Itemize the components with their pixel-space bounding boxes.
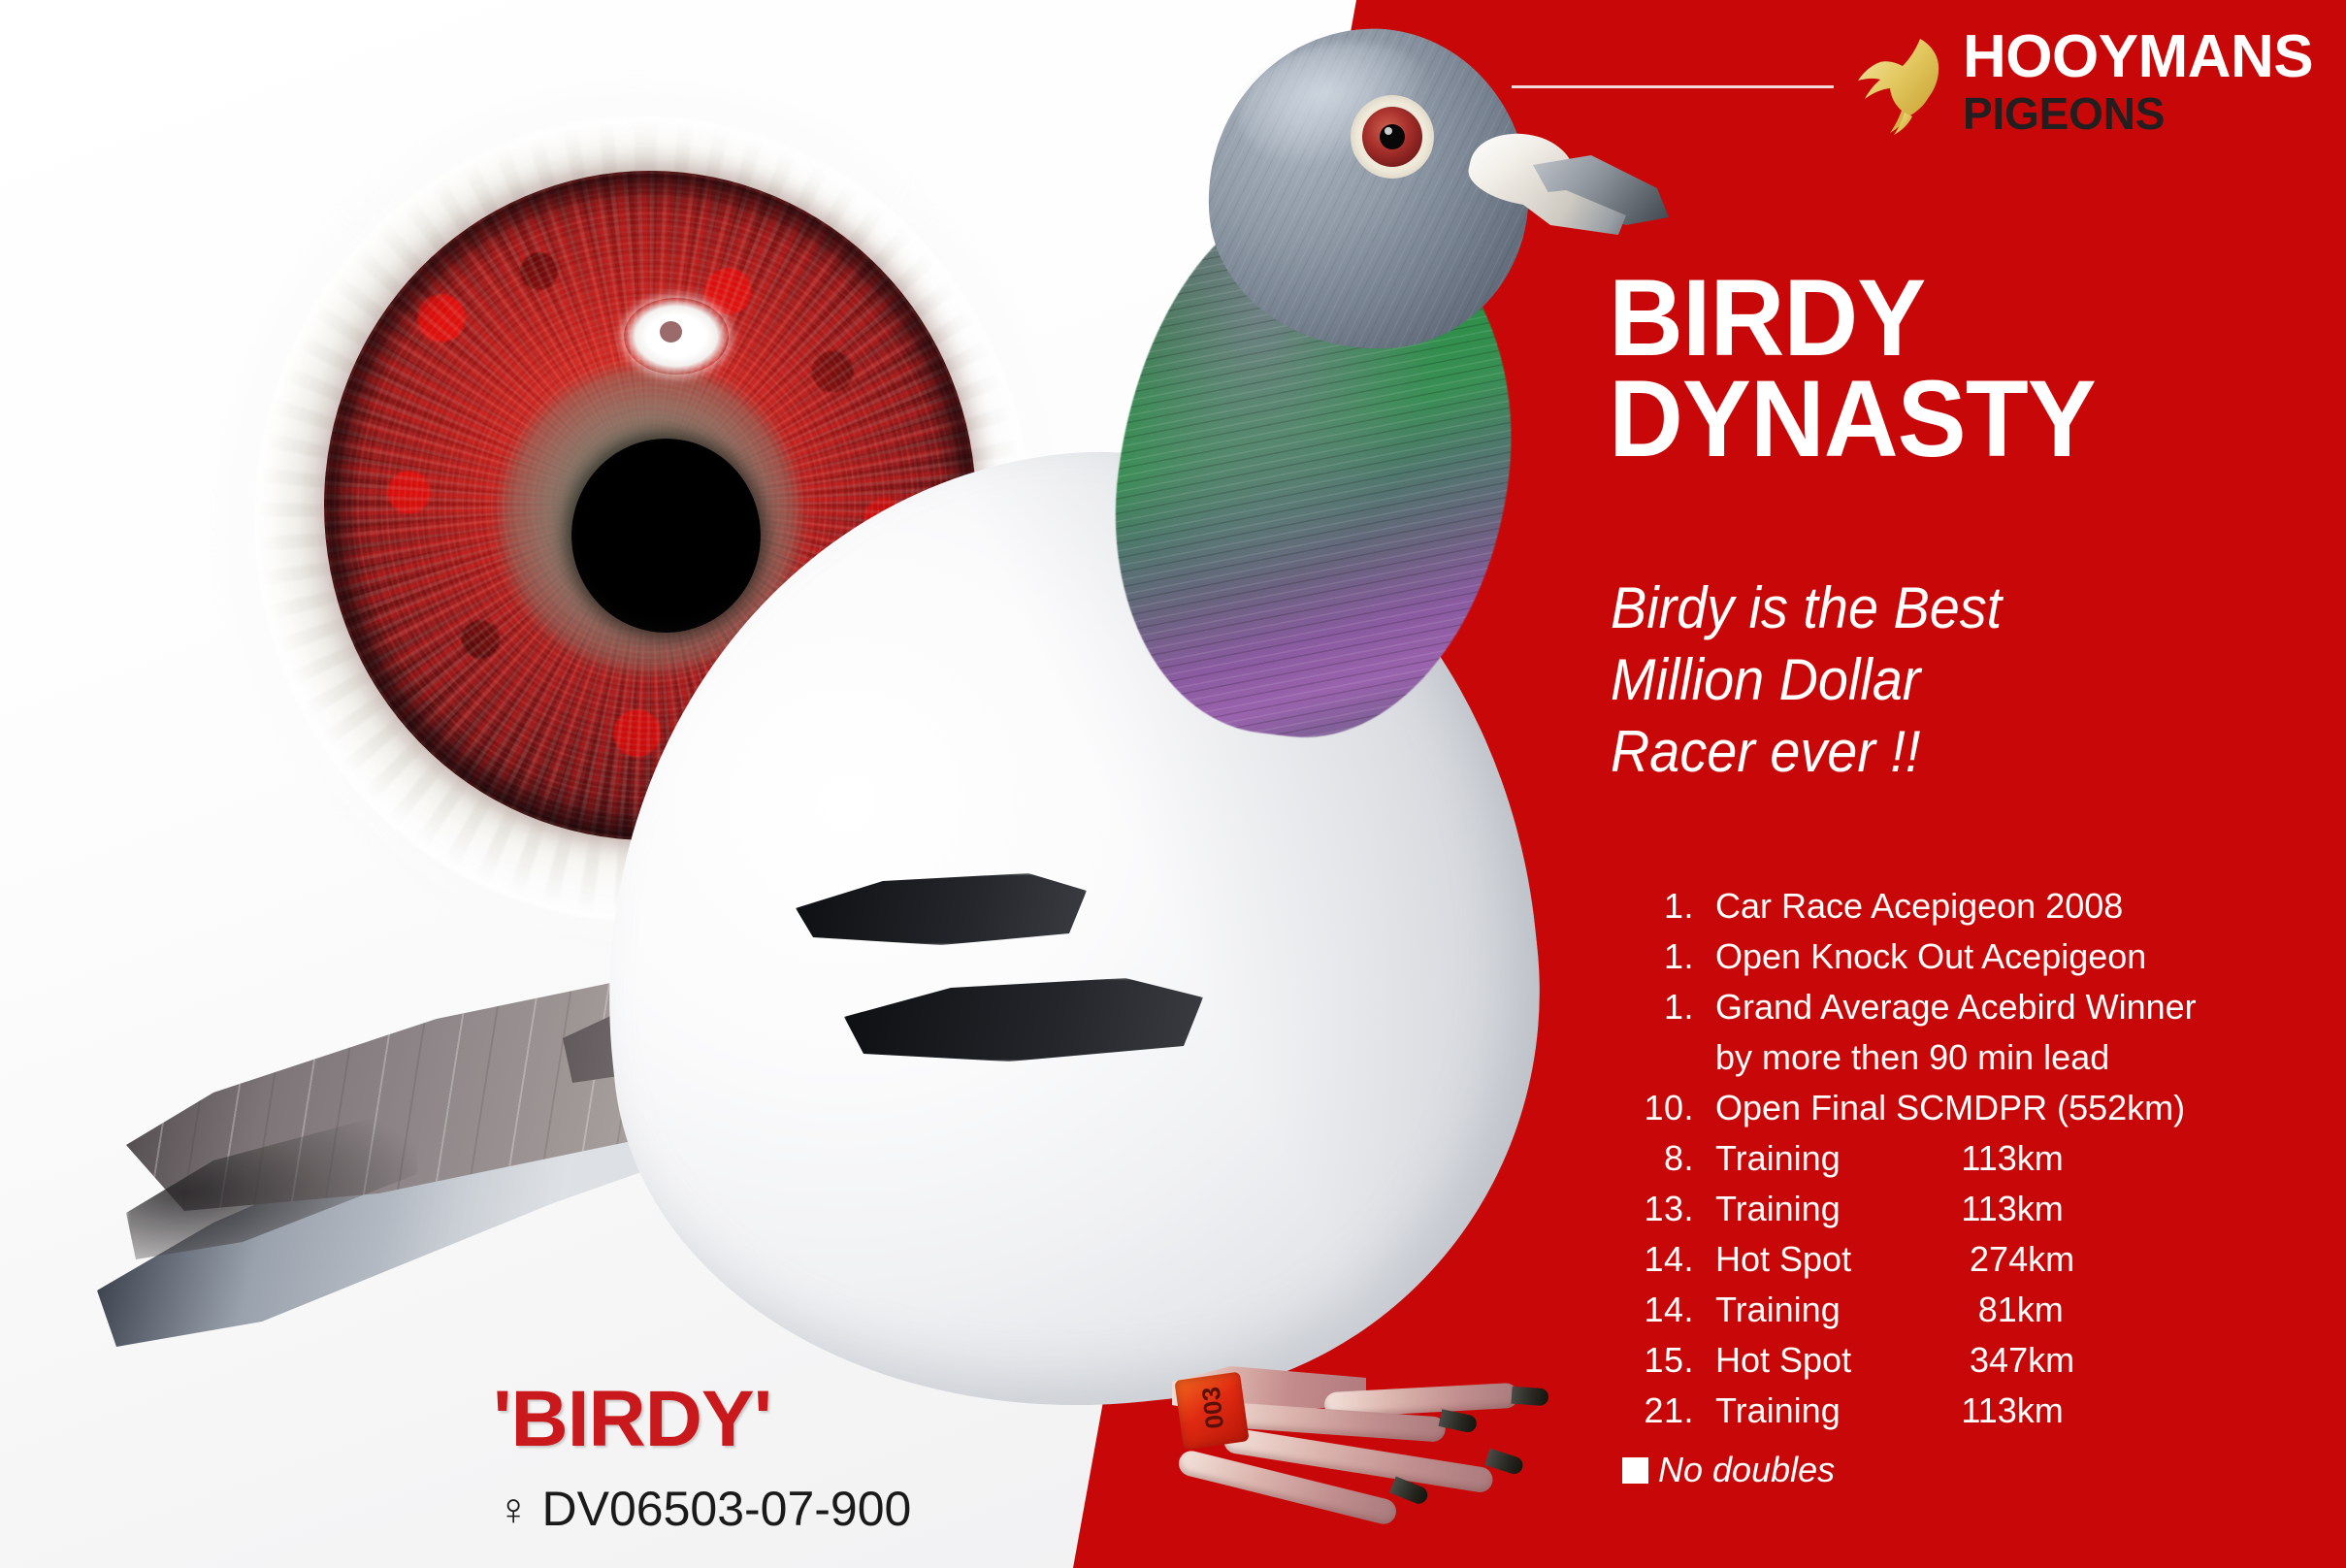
- result-row: 8.Training113km: [1622, 1133, 2263, 1184]
- poster-canvas: 003 HOOYMANS PIGEONS BIRDY DYNASTY Birdy: [0, 0, 2346, 1568]
- racing-pigeon-photo: 003: [58, 0, 1649, 1568]
- result-rank: 1.: [1622, 982, 1715, 1032]
- result-name: Training: [1715, 1133, 1841, 1184]
- logo-line-pigeons: PIGEONS: [1963, 89, 2313, 138]
- result-row: 1.Open Knock Out Acepigeon: [1622, 931, 2263, 982]
- pigeon-leg-ring-text: 003: [1195, 1379, 1230, 1430]
- result-rank: 1.: [1622, 881, 1715, 931]
- result-name: by more then 90 min lead: [1715, 1032, 2109, 1083]
- result-rank: 10.: [1622, 1083, 1715, 1133]
- result-rank: 1.: [1622, 931, 1715, 982]
- flying-pigeon-icon: [1848, 33, 1965, 140]
- page-subtitle: Birdy is the Best Million Dollar Racer e…: [1611, 572, 2242, 788]
- result-rank: 14.: [1622, 1285, 1715, 1335]
- result-name: Hot Spot: [1715, 1234, 1851, 1285]
- result-rank: 8.: [1622, 1133, 1715, 1184]
- pigeon-eye-glint: [1385, 127, 1392, 135]
- result-name: Hot Spot: [1715, 1335, 1851, 1386]
- result-rank: 13.: [1622, 1184, 1715, 1234]
- subtitle-line-3: Racer ever !!: [1611, 716, 2242, 788]
- result-row: 1.Car Race Acepigeon 2008: [1622, 881, 2263, 931]
- result-name: Open Knock Out Acepigeon: [1715, 931, 2146, 982]
- result-row: 15.Hot Spot347km: [1622, 1335, 2263, 1386]
- white-square-icon: [1622, 1457, 1648, 1484]
- pigeon-eye-pupil: [1380, 124, 1405, 149]
- result-name: Open Final SCMDPR (552km): [1715, 1083, 2185, 1133]
- result-row: 10.Open Final SCMDPR (552km): [1622, 1083, 2263, 1133]
- result-distance: 274km: [1851, 1234, 2074, 1285]
- pigeon-claw: [1511, 1387, 1548, 1407]
- result-distance: 81km: [1841, 1285, 2064, 1335]
- result-row: 13.Training113km: [1622, 1184, 2263, 1234]
- result-distance: 113km: [1841, 1133, 2064, 1184]
- result-row: 14.Hot Spot274km: [1622, 1234, 2263, 1285]
- no-doubles-label: No doubles: [1658, 1450, 1835, 1490]
- result-name: Training: [1715, 1184, 1841, 1234]
- result-row: 21.Training113km: [1622, 1386, 2263, 1436]
- result-name: Training: [1715, 1285, 1841, 1335]
- result-name: Training: [1715, 1386, 1841, 1436]
- no-doubles-note: No doubles: [1622, 1450, 1835, 1490]
- title-line-1: BIRDY: [1609, 268, 2309, 369]
- title-line-2: DYNASTY: [1609, 369, 2309, 470]
- female-symbol-icon: ♀: [497, 1485, 531, 1533]
- logo-wordmark: HOOYMANS PIGEONS: [1963, 27, 2313, 138]
- result-name: Car Race Acepigeon 2008: [1715, 881, 2123, 931]
- result-row: by more then 90 min lead: [1622, 1032, 2263, 1083]
- subtitle-line-2: Million Dollar: [1611, 644, 2242, 716]
- subtitle-line-1: Birdy is the Best: [1611, 572, 2242, 644]
- result-row: 14.Training81km: [1622, 1285, 2263, 1335]
- logo-line-hooymans: HOOYMANS: [1963, 27, 2313, 87]
- hooymans-pigeons-logo: HOOYMANS PIGEONS: [1848, 25, 2304, 142]
- header-divider: [1512, 85, 1834, 88]
- bird-ring-number: ♀ DV06503-07-900: [497, 1485, 911, 1533]
- results-list: 1.Car Race Acepigeon 20081.Open Knock Ou…: [1622, 881, 2263, 1436]
- result-rank: 21.: [1622, 1386, 1715, 1436]
- result-rank: 14.: [1622, 1234, 1715, 1285]
- result-distance: 347km: [1851, 1335, 2074, 1386]
- result-distance: 113km: [1841, 1184, 2064, 1234]
- ring-number-value: DV06503-07-900: [542, 1485, 912, 1533]
- result-row: 1.Grand Average Acebird Winner: [1622, 982, 2263, 1032]
- result-distance: 113km: [1841, 1386, 2064, 1436]
- page-title: BIRDY DYNASTY: [1609, 268, 2309, 470]
- bird-name: 'BIRDY': [493, 1380, 771, 1459]
- result-name: Grand Average Acebird Winner: [1715, 982, 2197, 1032]
- result-rank: 15.: [1622, 1335, 1715, 1386]
